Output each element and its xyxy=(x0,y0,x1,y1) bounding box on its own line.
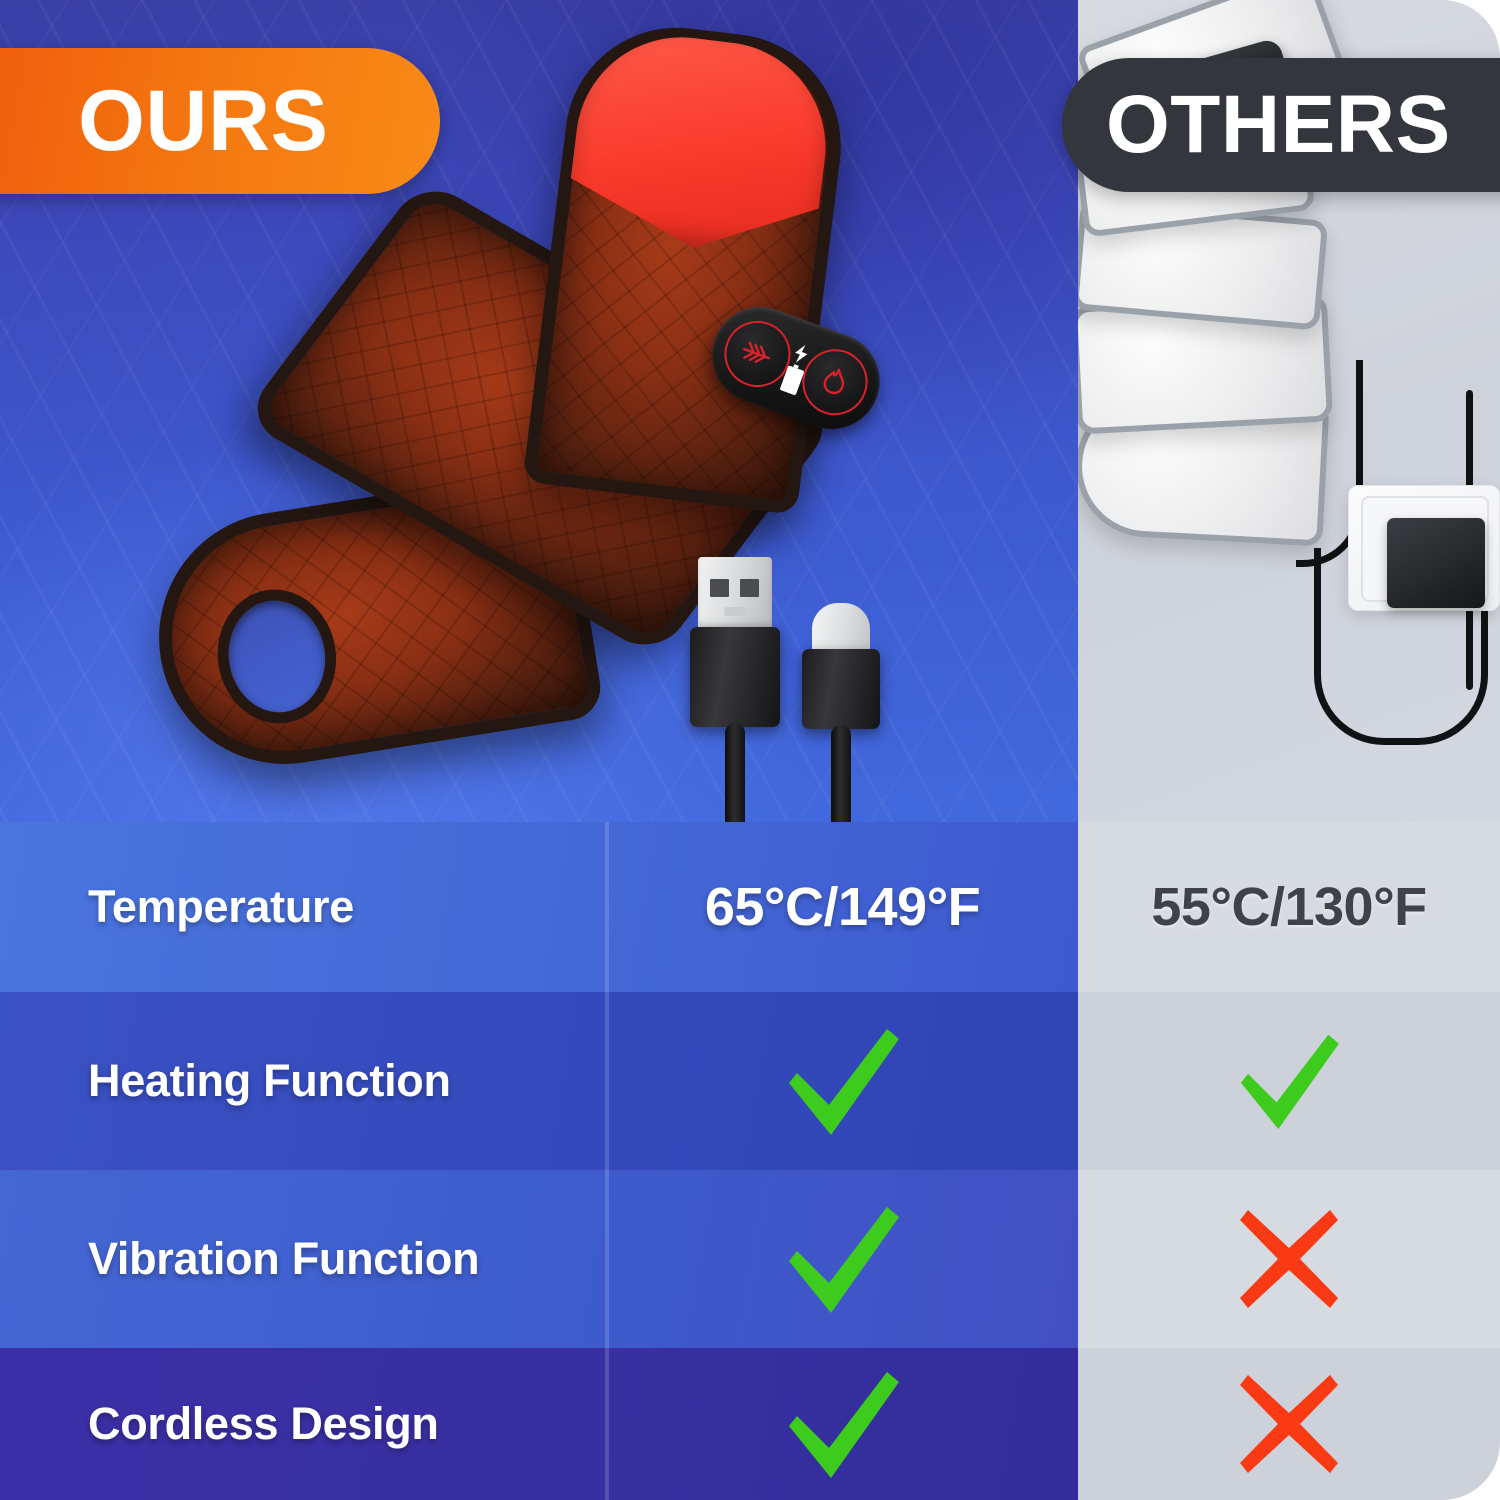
usb-a-cord xyxy=(725,723,745,822)
usb-a-connector-tip xyxy=(698,557,772,629)
usb-c-cord xyxy=(831,725,851,822)
others-badge: OTHERS xyxy=(1062,58,1500,192)
check-icon xyxy=(777,1195,909,1323)
ours-value-cell xyxy=(607,1348,1078,1500)
others-badge-label: OTHERS xyxy=(1106,78,1451,172)
wrap-segment-upper xyxy=(522,15,853,515)
feature-cell: Cordless Design xyxy=(0,1348,607,1500)
others-value-cell xyxy=(1078,1348,1500,1500)
ours-badge-label: OURS xyxy=(78,72,328,171)
ours-value: 65°C/149°F xyxy=(705,876,980,938)
comparison-table: Temperature 65°C/149°F 55°C/130°F Heatin… xyxy=(0,822,1500,1500)
thumb-hole xyxy=(221,594,333,720)
outlet-faceplate xyxy=(1361,496,1489,602)
table-row: Heating Function xyxy=(0,992,1500,1170)
feature-label: Cordless Design xyxy=(88,1398,439,1450)
table-row: Vibration Function xyxy=(0,1170,1500,1348)
feature-cell: Temperature xyxy=(0,822,607,992)
usb-c-connector-tip xyxy=(812,603,870,653)
wall-outlet xyxy=(1348,485,1500,611)
usb-c-housing xyxy=(802,649,880,729)
usb-a-housing xyxy=(690,627,780,727)
feature-label: Vibration Function xyxy=(88,1233,479,1285)
table-row: Temperature 65°C/149°F 55°C/130°F xyxy=(0,822,1500,992)
ours-value-cell xyxy=(607,992,1078,1170)
cross-icon xyxy=(1234,1204,1344,1314)
usb-charging-cable xyxy=(690,545,910,822)
ours-value-cell: 65°C/149°F xyxy=(607,822,1078,992)
red-flap xyxy=(564,25,837,262)
others-value-cell xyxy=(1078,992,1500,1170)
check-icon xyxy=(777,1017,909,1145)
comparison-infographic: OURS OTHERS Temperature 65°C/149°F 55°C/… xyxy=(0,0,1500,1500)
column-divider-ours xyxy=(605,822,609,1500)
others-value-cell: 55°C/130°F xyxy=(1078,822,1500,992)
ours-value-cell xyxy=(607,1170,1078,1348)
feature-label: Heating Function xyxy=(88,1055,451,1107)
feature-label: Temperature xyxy=(88,881,354,933)
others-value: 55°C/130°F xyxy=(1151,876,1426,938)
feature-cell: Heating Function xyxy=(0,992,607,1170)
table-row: Cordless Design xyxy=(0,1348,1500,1500)
feature-cell: Vibration Function xyxy=(0,1170,607,1348)
cross-icon xyxy=(1234,1369,1344,1479)
ours-badge: OURS xyxy=(0,48,440,194)
ac-wall-adapter xyxy=(1387,518,1485,608)
check-icon xyxy=(1230,1024,1348,1138)
others-value-cell xyxy=(1078,1170,1500,1348)
check-icon xyxy=(777,1360,909,1488)
